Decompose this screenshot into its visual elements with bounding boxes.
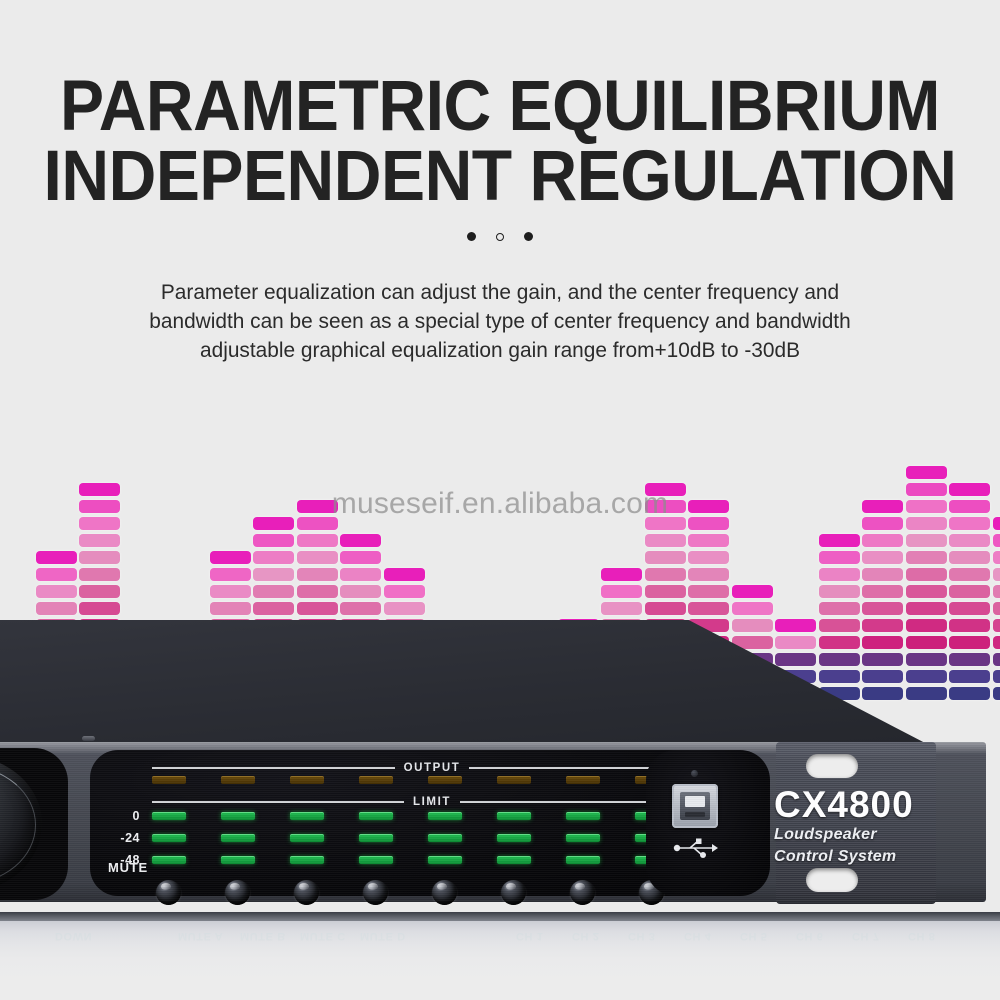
eq-segment [297,551,338,564]
level-led [359,812,393,820]
eq-segment [340,534,381,547]
mute-button-7[interactable] [570,880,595,905]
eq-segment [79,517,120,530]
limit-rule-left [152,801,404,803]
eq-segment [645,534,686,547]
eq-segment [297,500,338,513]
level-led [221,856,255,864]
promo-banner: PARAMETRIC EQUILIBRIUM INDEPENDENT REGUL… [0,0,1000,1000]
mute-button-5[interactable] [432,880,457,905]
eq-segment [36,551,77,564]
eq-segment [819,568,860,581]
eq-segment [79,585,120,598]
eq-segment [819,534,860,547]
level-led [428,812,462,820]
eq-segment [862,534,903,547]
eq-segment [688,500,729,513]
level-led [359,834,393,842]
mute-button-2[interactable] [225,880,250,905]
level-led [497,834,531,842]
eq-segment [384,568,425,581]
eq-segment [253,585,294,598]
model-subtitle-line-1: Loudspeaker [774,826,942,845]
headline-line-1: PARAMETRIC EQUILIBRIUM [35,72,965,142]
eq-segment [949,568,990,581]
eq-segment [819,551,860,564]
reflection-fade [0,912,1000,1000]
output-header: OUTPUT [152,762,712,774]
limit-led [152,776,186,784]
eq-segment [819,585,860,598]
top-screw [82,736,95,741]
eq-segment [906,585,947,598]
device-faceplate: OUTPUT LIMIT 0-24-4812345678 MUTE [0,742,986,902]
eq-segment [645,500,686,513]
level-led [152,812,186,820]
eq-segment [906,534,947,547]
level-led [566,812,600,820]
eq-segment [79,551,120,564]
model-subtitle-line-2: Control System [774,848,942,867]
limit-led [359,776,393,784]
level-led [152,834,186,842]
eq-segment [949,483,990,496]
eq-segment [297,568,338,581]
eq-segment [993,585,1000,598]
eq-segment [949,585,990,598]
model-name: CX4800 [774,786,942,823]
eq-segment [645,483,686,496]
eq-segment [601,568,642,581]
device-reflection: DOWNMUTE AMUTE BMUTE CMUTE DCH 1CH 2CH 3… [0,912,1000,1000]
limit-led [497,776,531,784]
eq-segment [253,534,294,547]
mute-button-6[interactable] [501,880,526,905]
eq-segment [993,517,1000,530]
eq-segment [36,585,77,598]
subtitle-paragraph: Parameter equalization can adjust the ga… [131,278,868,364]
usb-panel [646,750,770,896]
eq-segment [862,500,903,513]
eq-segment [862,585,903,598]
dot-2[interactable] [496,233,504,241]
eq-segment [253,517,294,530]
level-led [497,812,531,820]
level-led [221,834,255,842]
mute-button-1[interactable] [156,880,181,905]
eq-segment [79,483,120,496]
subtitle-line-1: Parameter equalization can adjust the ga… [131,278,868,307]
eq-segment [862,551,903,564]
eq-segment [79,568,120,581]
limit-header: LIMIT [152,796,712,808]
output-rule-left [152,767,395,769]
eq-segment [862,568,903,581]
eq-segment [297,517,338,530]
status-led [691,770,698,777]
level-led [152,856,186,864]
eq-segment [732,585,773,598]
eq-segment [645,551,686,564]
level-led [359,856,393,864]
limit-led [221,776,255,784]
eq-segment [688,534,729,547]
eq-segment [688,568,729,581]
eq-segment [210,568,251,581]
eq-segment [949,517,990,530]
level-led [290,812,324,820]
output-label: OUTPUT [395,762,470,774]
eq-segment [384,585,425,598]
eq-segment [906,466,947,479]
eq-segment [79,534,120,547]
mute-button-4[interactable] [363,880,388,905]
model-branding: CX4800 Loudspeaker Control System [774,786,942,866]
limit-led [290,776,324,784]
eq-segment [79,500,120,513]
eq-segment [645,585,686,598]
eq-segment [253,568,294,581]
carousel-dots [0,232,1000,241]
subtitle-line-2: bandwidth can be seen as a special type … [131,307,868,336]
eq-segment [340,585,381,598]
eq-segment [688,517,729,530]
eq-segment [993,568,1000,581]
eq-segment [688,551,729,564]
mute-button-3[interactable] [294,880,319,905]
eq-segment [297,534,338,547]
eq-segment [297,585,338,598]
usb-type-b-port[interactable] [672,784,718,828]
limit-led [428,776,462,784]
usb-port-inner [680,792,710,820]
eq-segment [688,585,729,598]
limit-label: LIMIT [404,796,460,808]
level-led [221,812,255,820]
eq-segment [949,551,990,564]
level-led [566,856,600,864]
rack-mount-slot-top [806,754,858,778]
eq-segment [949,534,990,547]
eq-segment [340,568,381,581]
dot-3[interactable] [524,232,533,241]
level-led [497,856,531,864]
usb-trident-icon [668,838,724,858]
eq-segment [36,568,77,581]
level-led [290,856,324,864]
eq-segment [210,551,251,564]
dot-1[interactable] [467,232,476,241]
eq-segment [340,551,381,564]
mute-row-label: MUTE [90,860,148,875]
level-led [428,834,462,842]
eq-segment [645,517,686,530]
rack-ear-right: CX4800 Loudspeaker Control System [776,742,936,904]
eq-segment [645,568,686,581]
eq-segment [993,551,1000,564]
eq-segment [906,568,947,581]
eq-segment [210,585,251,598]
eq-segment [993,534,1000,547]
subtitle-line-3: adjustable graphical equalization gain r… [131,336,868,365]
eq-segment [906,551,947,564]
eq-segment [862,517,903,530]
rack-mount-slot-bottom [806,868,858,892]
headline-line-2: INDEPENDENT REGULATION [35,142,965,212]
level-led [428,856,462,864]
eq-segment [253,551,294,564]
level-led [290,834,324,842]
scale-label-0: 0 [94,809,140,823]
eq-segment [906,517,947,530]
level-led [566,834,600,842]
eq-segment [949,500,990,513]
scale-label-1: -24 [94,831,140,845]
eq-segment [906,500,947,513]
device-top-surface [0,620,1000,750]
eq-segment [601,585,642,598]
eq-segment [906,483,947,496]
page-title: PARAMETRIC EQUILIBRIUM INDEPENDENT REGUL… [35,72,965,211]
limit-led [566,776,600,784]
